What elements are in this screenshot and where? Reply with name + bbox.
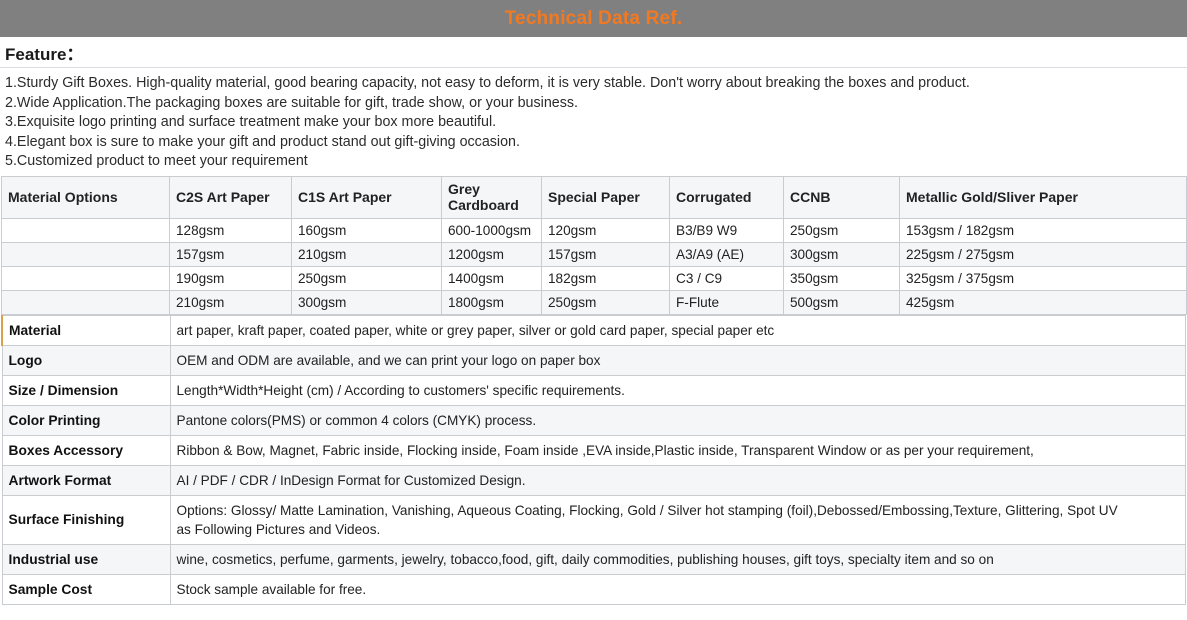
- column-header-material-options: Material Options: [2, 176, 170, 218]
- spec-value: Length*Width*Height (cm) / According to …: [170, 375, 1186, 405]
- page-title-bar: Technical Data Ref.: [0, 0, 1187, 37]
- spec-label: Surface Finishing: [2, 495, 170, 544]
- table-row: 157gsm 210gsm 1200gsm 157gsm A3/A9 (AE) …: [2, 242, 1187, 266]
- cell-metallic: 153gsm / 182gsm: [900, 218, 1187, 242]
- spec-value: art paper, kraft paper, coated paper, wh…: [170, 315, 1186, 345]
- cell-grey-cardboard: 1800gsm: [442, 290, 542, 314]
- cell-c1s: 300gsm: [292, 290, 442, 314]
- spec-row-industrial-use: Industrial use wine, cosmetics, perfume,…: [2, 544, 1186, 574]
- cell-metallic: 225gsm / 275gsm: [900, 242, 1187, 266]
- spec-row-boxes-accessory: Boxes Accessory Ribbon & Bow, Magnet, Fa…: [2, 435, 1186, 465]
- spec-value-line: as Following Pictures and Videos.: [177, 520, 1180, 539]
- cell-grey-cardboard: 1200gsm: [442, 242, 542, 266]
- feature-heading: Feature：: [5, 40, 83, 65]
- table-row: 190gsm 250gsm 1400gsm 182gsm C3 / C9 350…: [2, 266, 1187, 290]
- spec-label: Size / Dimension: [2, 375, 170, 405]
- cell-c2s: 157gsm: [170, 242, 292, 266]
- column-header-c2s-art-paper: C2S Art Paper: [170, 176, 292, 218]
- spec-label: Logo: [2, 345, 170, 375]
- spec-value-line: Options: Glossy/ Matte Lamination, Vanis…: [177, 501, 1180, 520]
- column-header-metallic-paper: Metallic Gold/Sliver Paper: [900, 176, 1187, 218]
- table-row: 128gsm 160gsm 600-1000gsm 120gsm B3/B9 W…: [2, 218, 1187, 242]
- feature-item: 4.Elegant box is sure to make your gift …: [5, 133, 1187, 153]
- spec-row-sample-cost: Sample Cost Stock sample available for f…: [2, 574, 1186, 604]
- feature-list: 1.Sturdy Gift Boxes. High-quality materi…: [0, 68, 1187, 176]
- cell-c1s: 210gsm: [292, 242, 442, 266]
- spec-row-color-printing: Color Printing Pantone colors(PMS) or co…: [2, 405, 1186, 435]
- cell-c1s: 160gsm: [292, 218, 442, 242]
- cell-c2s: 128gsm: [170, 218, 292, 242]
- cell-ccnb: 250gsm: [784, 218, 900, 242]
- cell-ccnb: 300gsm: [784, 242, 900, 266]
- cell-c2s: 190gsm: [170, 266, 292, 290]
- cell-grey-cardboard: 600-1000gsm: [442, 218, 542, 242]
- cell-corrugated: B3/B9 W9: [670, 218, 784, 242]
- cell-corrugated: C3 / C9: [670, 266, 784, 290]
- spec-label: Sample Cost: [2, 574, 170, 604]
- page-title: Technical Data Ref.: [505, 9, 683, 28]
- technical-data-page: Technical Data Ref. Feature： 1.Sturdy Gi…: [0, 0, 1187, 620]
- feature-heading-row: Feature：: [0, 37, 1187, 68]
- cell-special-paper: 250gsm: [542, 290, 670, 314]
- cell-special-paper: 182gsm: [542, 266, 670, 290]
- cell-grey-cardboard: 1400gsm: [442, 266, 542, 290]
- cell-special-paper: 120gsm: [542, 218, 670, 242]
- spec-label: Color Printing: [2, 405, 170, 435]
- cell-material-options: [2, 242, 170, 266]
- cell-special-paper: 157gsm: [542, 242, 670, 266]
- spec-value-line: OEM and ODM are available, and we can pr…: [177, 351, 1180, 370]
- spec-value-line: Stock sample available for free.: [177, 580, 1180, 599]
- feature-item: 5.Customized product to meet your requir…: [5, 152, 1187, 172]
- cell-material-options: [2, 266, 170, 290]
- table-row: 210gsm 300gsm 1800gsm 250gsm F-Flute 500…: [2, 290, 1187, 314]
- spec-value: Options: Glossy/ Matte Lamination, Vanis…: [170, 495, 1186, 544]
- spec-row-logo: Logo OEM and ODM are available, and we c…: [2, 345, 1186, 375]
- spec-value-line: art paper, kraft paper, coated paper, wh…: [177, 321, 1180, 340]
- column-header-special-paper: Special Paper: [542, 176, 670, 218]
- spec-value-line: Ribbon & Bow, Magnet, Fabric inside, Flo…: [177, 441, 1180, 460]
- spec-value-line: Pantone colors(PMS) or common 4 colors (…: [177, 411, 1180, 430]
- spec-value: wine, cosmetics, perfume, garments, jewe…: [170, 544, 1186, 574]
- column-header-c1s-art-paper: C1S Art Paper: [292, 176, 442, 218]
- cell-corrugated: F-Flute: [670, 290, 784, 314]
- spec-value: Pantone colors(PMS) or common 4 colors (…: [170, 405, 1186, 435]
- spec-label: Industrial use: [2, 544, 170, 574]
- cell-material-options: [2, 218, 170, 242]
- feature-item: 2.Wide Application.The packaging boxes a…: [5, 94, 1187, 114]
- cell-c2s: 210gsm: [170, 290, 292, 314]
- table-header-row: Material Options C2S Art Paper C1S Art P…: [2, 176, 1187, 218]
- spec-label: Boxes Accessory: [2, 435, 170, 465]
- spec-value: Ribbon & Bow, Magnet, Fabric inside, Flo…: [170, 435, 1186, 465]
- spec-value-line: wine, cosmetics, perfume, garments, jewe…: [177, 550, 1180, 569]
- spec-value: Stock sample available for free.: [170, 574, 1186, 604]
- specification-table: Material art paper, kraft paper, coated …: [1, 315, 1186, 605]
- spec-row-material: Material art paper, kraft paper, coated …: [2, 315, 1186, 345]
- cell-ccnb: 500gsm: [784, 290, 900, 314]
- material-options-table: Material Options C2S Art Paper C1S Art P…: [1, 176, 1187, 315]
- cell-metallic: 425gsm: [900, 290, 1187, 314]
- column-header-corrugated: Corrugated: [670, 176, 784, 218]
- spec-value: AI / PDF / CDR / InDesign Format for Cus…: [170, 465, 1186, 495]
- spec-value-line: Length*Width*Height (cm) / According to …: [177, 381, 1180, 400]
- spec-label: Material: [2, 315, 170, 345]
- cell-c1s: 250gsm: [292, 266, 442, 290]
- spec-value-line: AI / PDF / CDR / InDesign Format for Cus…: [177, 471, 1180, 490]
- cell-metallic: 325gsm / 375gsm: [900, 266, 1187, 290]
- cell-material-options: [2, 290, 170, 314]
- feature-item: 1.Sturdy Gift Boxes. High-quality materi…: [5, 74, 1187, 94]
- spec-label: Artwork Format: [2, 465, 170, 495]
- column-header-grey-cardboard: Grey Cardboard: [442, 176, 542, 218]
- cell-corrugated: A3/A9 (AE): [670, 242, 784, 266]
- cell-ccnb: 350gsm: [784, 266, 900, 290]
- spec-row-surface-finishing: Surface Finishing Options: Glossy/ Matte…: [2, 495, 1186, 544]
- column-header-ccnb: CCNB: [784, 176, 900, 218]
- spec-value: OEM and ODM are available, and we can pr…: [170, 345, 1186, 375]
- spec-row-artwork-format: Artwork Format AI / PDF / CDR / InDesign…: [2, 465, 1186, 495]
- spec-row-size-dimension: Size / Dimension Length*Width*Height (cm…: [2, 375, 1186, 405]
- feature-item: 3.Exquisite logo printing and surface tr…: [5, 113, 1187, 133]
